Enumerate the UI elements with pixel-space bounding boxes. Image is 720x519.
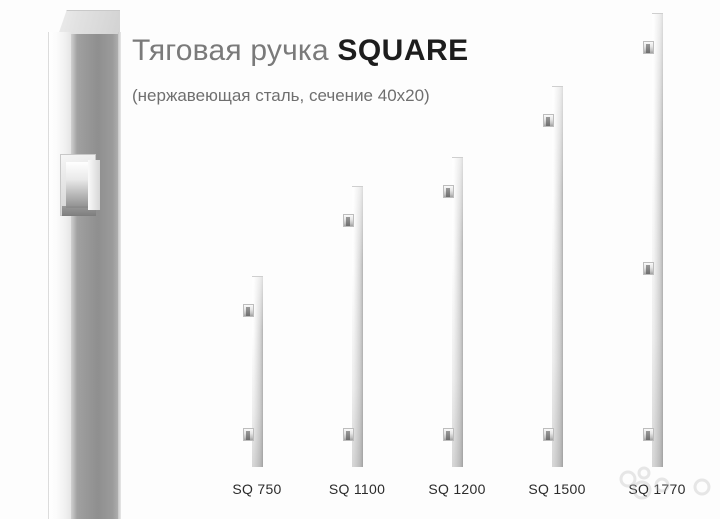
handle-mount-bracket <box>443 428 454 441</box>
handle-mount-bracket <box>443 185 454 198</box>
handle-mount-bracket <box>643 428 654 441</box>
handle-bar <box>552 86 563 466</box>
handle-bar <box>652 13 663 466</box>
handle-mount-bracket <box>543 428 554 441</box>
hero-handle-highlight <box>71 34 77 519</box>
hero-handle-right-edge <box>118 32 121 519</box>
handle-bar-body <box>652 13 663 467</box>
page-title: Тяговая ручка SQUARE <box>132 34 469 68</box>
handle-label: SQ 750 <box>232 481 281 497</box>
handle-bar-body <box>552 86 563 467</box>
handle-mount-bracket <box>243 428 254 441</box>
handle-mount-bracket <box>643 262 654 275</box>
handle-label: SQ 1200 <box>428 481 485 497</box>
handle-label: SQ 1100 <box>329 481 385 497</box>
page-subtitle: (нержавеющая сталь, сечение 40x20) <box>132 85 430 106</box>
handle-mount-bracket <box>643 41 654 54</box>
page-title-main: Тяговая ручка <box>132 34 337 67</box>
handle-bar <box>352 186 363 466</box>
page-title-brand: SQUARE <box>337 34 468 67</box>
hero-handle-side-face <box>48 32 72 519</box>
handle-label: SQ 1500 <box>528 481 585 497</box>
product-image-canvas: Тяговая ручка SQUARE (нержавеющая сталь,… <box>0 0 720 519</box>
handle-bar <box>452 157 463 466</box>
hero-handle <box>48 10 120 519</box>
hero-handle-front-face <box>71 34 120 519</box>
handle-mount-bracket <box>343 428 354 441</box>
hero-handle-bracket-neck <box>88 160 100 210</box>
handle-mount-bracket <box>543 114 554 127</box>
handle-bar <box>252 276 263 466</box>
handle-mount-bracket <box>243 304 254 317</box>
handle-mount-bracket <box>343 214 354 227</box>
handle-label: SQ 1770 <box>628 481 685 497</box>
handle-bar-body <box>352 186 363 467</box>
handle-bar-body <box>452 157 463 467</box>
